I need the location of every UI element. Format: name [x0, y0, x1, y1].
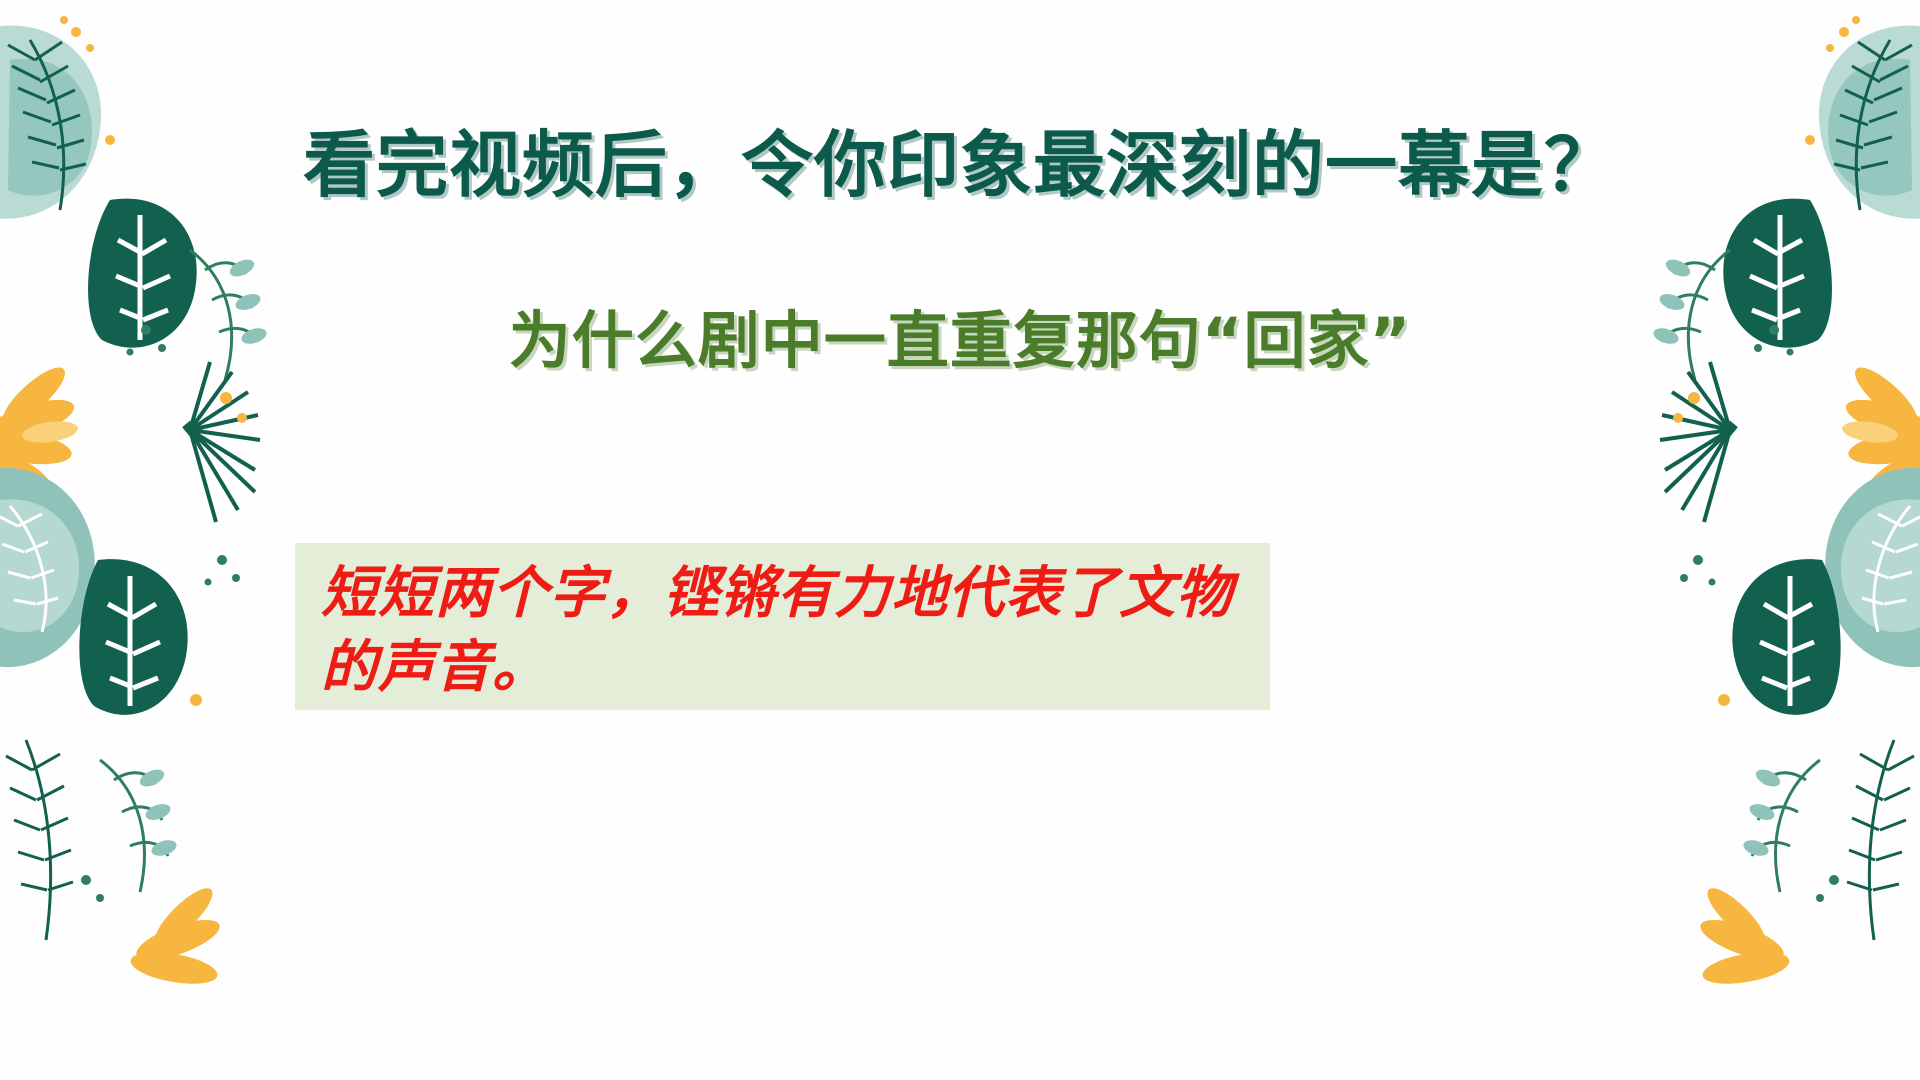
- monstera-leaf-lower: [79, 559, 187, 715]
- slide-subtitle: 为什么剧中一直重复那句“回家”: [0, 290, 1920, 380]
- sprig-group-lower: [100, 760, 168, 892]
- fern-lower: [6, 740, 73, 940]
- leaf-cluster-mid: [0, 468, 95, 668]
- flower-gold-left-lower: [128, 881, 224, 989]
- quote-highlight-box: 短短两个字，铿锵有力地代表了文物的声音。: [295, 543, 1270, 710]
- flower-gold-left: [0, 360, 79, 500]
- slide-title: 看完视频后，令你印象最深刻的一幕是？: [0, 106, 1920, 211]
- dot-accents-gold: [105, 135, 247, 706]
- dot-accents: [81, 325, 240, 902]
- slide-canvas: 看完视频后，令你印象最深刻的一幕是？ 为什么剧中一直重复那句“回家” 短短两个字…: [0, 0, 1920, 1080]
- palm-frond-mid: [186, 362, 260, 522]
- quote-text: 短短两个字，铿锵有力地代表了文物的声音。: [321, 557, 1244, 705]
